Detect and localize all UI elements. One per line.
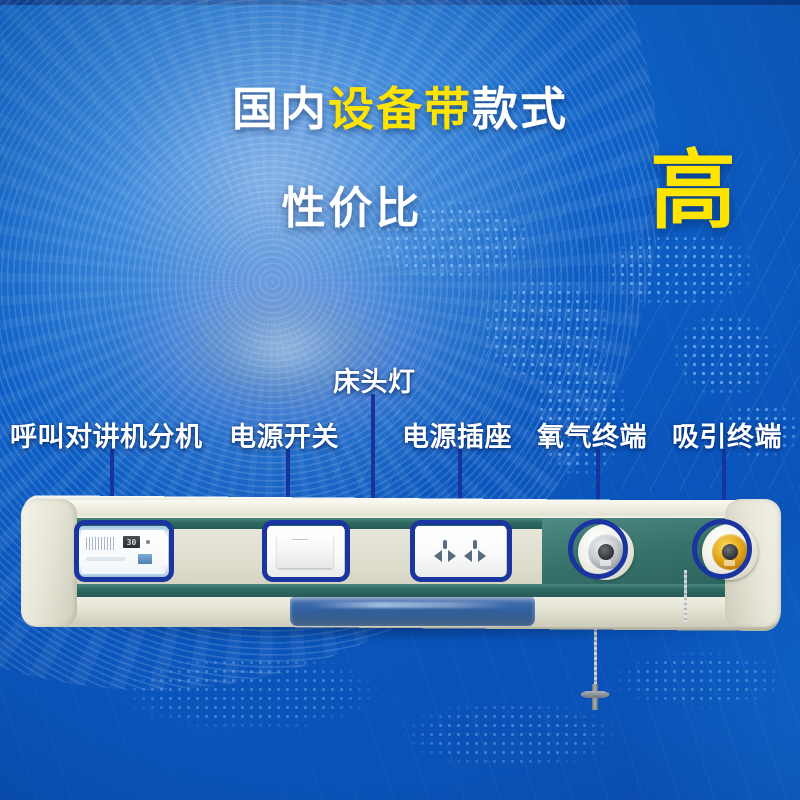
highlight-circle-suction-terminal — [692, 519, 752, 579]
callout-label-nurse-call-intercom: 呼叫对讲机分机 — [10, 415, 203, 454]
headline-part1: 国内 — [232, 83, 328, 135]
callout-label-suction-terminal: 吸引终端 — [672, 415, 782, 454]
callout-label-bed-lamp: 床头灯 — [333, 360, 416, 399]
headline-big-word: 高 — [650, 148, 736, 234]
callout-label-power-socket: 电源插座 — [402, 415, 512, 454]
pull-chain-weight[interactable] — [581, 684, 609, 710]
callout-label-oxygen-terminal: 氧气终端 — [537, 415, 647, 454]
pull-chain-weight-cross-icon — [581, 691, 609, 698]
subheadline-text: 性价比 — [282, 184, 423, 233]
headline-part3: 款式 — [472, 83, 568, 135]
poster-canvas: 国内设备带款式 性价比 高 呼叫对讲机分机 电源开关 床头灯 电源插座 氧气终端… — [0, 0, 800, 800]
highlight-circle-oxygen-terminal — [568, 519, 628, 579]
bed-lamp-gloss — [310, 602, 510, 608]
headline-highlight: 设备带 — [328, 83, 472, 135]
highlight-box-nurse-call-intercom — [74, 520, 174, 582]
device-top-lip — [24, 500, 778, 516]
green-stripe-bottom — [72, 584, 730, 597]
callout-label-power-switch: 电源开关 — [229, 415, 339, 454]
suction-pull-chain-upper — [684, 570, 687, 622]
headline: 国内设备带款式 — [0, 86, 800, 132]
device-endcap-left — [21, 499, 77, 627]
highlight-box-power-switch — [262, 520, 350, 582]
highlight-box-power-socket — [410, 520, 512, 582]
